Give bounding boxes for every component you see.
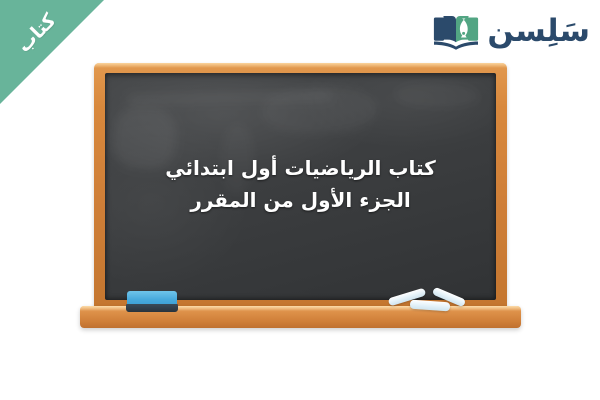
blackboard-title-line-1: كتاب الرياضيات أول ابتدائي xyxy=(127,152,474,184)
chalk-smudge xyxy=(394,81,481,110)
open-book-with-quill-icon xyxy=(433,11,479,51)
blackboard-title-line-2: الجزء الأول من المقرر xyxy=(127,184,474,216)
blackboard-title-block: كتاب الرياضيات أول ابتدائي الجزء الأول م… xyxy=(105,152,496,217)
banner-canvas: كتاب سَلِسن كتاب الرياضيات أول xyxy=(0,0,600,400)
corner-ribbon: كتاب xyxy=(0,0,104,104)
brand-logo[interactable]: سَلِسن xyxy=(433,10,590,52)
blue-chalk-eraser[interactable] xyxy=(127,291,177,313)
brand-name-label: سَلِسن xyxy=(487,16,590,47)
blackboard-wooden-frame: كتاب الرياضيات أول ابتدائي الجزء الأول م… xyxy=(94,63,507,312)
chalk-smudge xyxy=(128,91,331,104)
blackboard: كتاب الرياضيات أول ابتدائي الجزء الأول م… xyxy=(80,63,521,333)
chalk-smudge xyxy=(261,85,380,135)
frame-highlight xyxy=(94,63,507,68)
eraser-base xyxy=(126,304,178,312)
blackboard-slate-surface: كتاب الرياضيات أول ابتدائي الجزء الأول م… xyxy=(105,73,496,300)
